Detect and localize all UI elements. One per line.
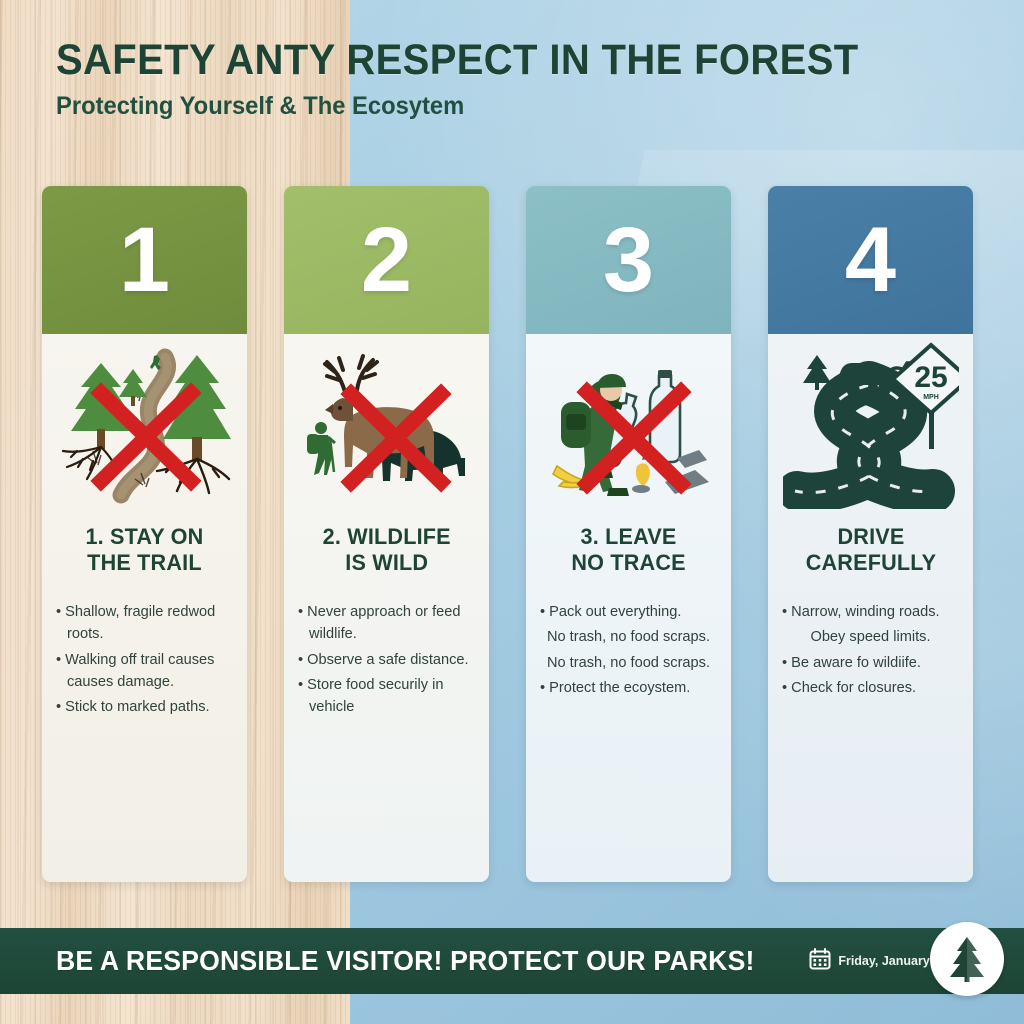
footer-banner: BE A RESPONSIBLE VISITOR! PROTECT OUR PA… [0,928,1024,994]
card-2-title: 2. WILDLIFE IS WILD [322,524,450,575]
list-item: Stick to marked paths. [56,696,233,718]
list-item: Obey speed limits. [782,626,959,648]
card-3-header: 3 [526,186,731,334]
trees-roots-trail-no-sign-icon [56,334,233,514]
card-4-bullets: Narrow, winding roads. Obey speed limits… [782,601,959,702]
footer-message: BE A RESPONSIBLE VISITOR! PROTECT OUR PA… [56,945,755,977]
pine-tree-logo [930,922,1004,996]
card-1-title-line1: 1. STAY ON [86,524,204,549]
card-2-number: 2 [361,214,412,306]
list-item: Pack out everything. [540,601,717,623]
list-item: Protect the ecoystem. [540,677,717,699]
list-item: Be aware fo wildiife. [782,652,959,674]
infographic-canvas: SAFETY ANTY RESPECT IN THE FOREST Protec… [0,0,1024,1024]
card-1-bullets: Shallow, fragile redwod roots. Walking o… [56,601,233,721]
list-item: Never approach or feed wildlife. [298,601,475,645]
card-1-body: 1. STAY ON THE TRAIL Shallow, fragile re… [42,334,247,882]
card-2-title-line2: IS WILD [345,550,428,575]
card-2-body: 2. WILDLIFE IS WILD Never approach or fe… [284,334,489,882]
list-item: Check for closures. [782,677,959,699]
card-4-number: 4 [845,214,896,306]
svg-text:MPH: MPH [923,394,939,401]
card-1-number: 1 [119,214,170,306]
hiker-litter-no-sign-icon [540,334,717,514]
card-2-header: 2 [284,186,489,334]
card-3-number: 3 [603,214,654,306]
list-item: Observe a safe distance. [298,649,475,671]
card-leave-no-trace[interactable]: 3 [526,186,731,882]
list-item: Shallow, fragile redwod roots. [56,601,233,645]
list-item: No trash, no food scraps. [540,626,717,648]
card-4-title-line2: CAREFULLY [805,550,936,575]
card-3-title-line2: NO TRACE [571,550,685,575]
card-1-title: 1. STAY ON THE TRAIL [86,524,204,575]
card-4-body: 25 MPH DRIVE CAREFULLY Narrow, winding r… [768,334,973,882]
card-2-title-line1: 2. WILDLIFE [322,524,450,549]
list-item: No trash, no food scraps. [540,652,717,674]
card-3-title: 3. LEAVE NO TRACE [571,524,685,575]
list-item: Narrow, winding roads. [782,601,959,623]
card-1-title-line2: THE TRAIL [87,550,202,575]
card-stay-on-the-trail[interactable]: 1 [42,186,247,882]
card-4-title-line1: DRIVE [837,524,904,549]
list-item: Store food securily in vehicle [298,674,475,718]
card-grid: 1 [42,186,982,882]
card-drive-carefully[interactable]: 4 [768,186,973,882]
card-1-header: 1 [42,186,247,334]
speed-limit-value: 25 [914,361,947,394]
card-4-title: DRIVE CAREFULLY [805,524,936,575]
card-3-body: 3. LEAVE NO TRACE Pack out everything. N… [526,334,731,882]
card-4-header: 4 [768,186,973,334]
winding-road-speed-sign-icon: 25 MPH [782,334,959,514]
card-3-bullets: Pack out everything. No trash, no food s… [540,601,717,702]
list-item: Walking off trail causes causes damage. [56,649,233,693]
page-subtitle: Protecting Yourself & The Ecosytem [56,92,911,121]
card-3-title-line1: 3. LEAVE [580,524,676,549]
elk-bear-hiker-no-sign-icon [298,334,475,514]
calendar-icon [809,948,831,975]
header: SAFETY ANTY RESPECT IN THE FOREST Protec… [56,38,956,121]
card-wildlife-is-wild[interactable]: 2 [284,186,489,882]
page-title: SAFETY ANTY RESPECT IN THE FOREST [56,38,893,84]
card-2-bullets: Never approach or feed wildlife. Observe… [298,601,475,721]
